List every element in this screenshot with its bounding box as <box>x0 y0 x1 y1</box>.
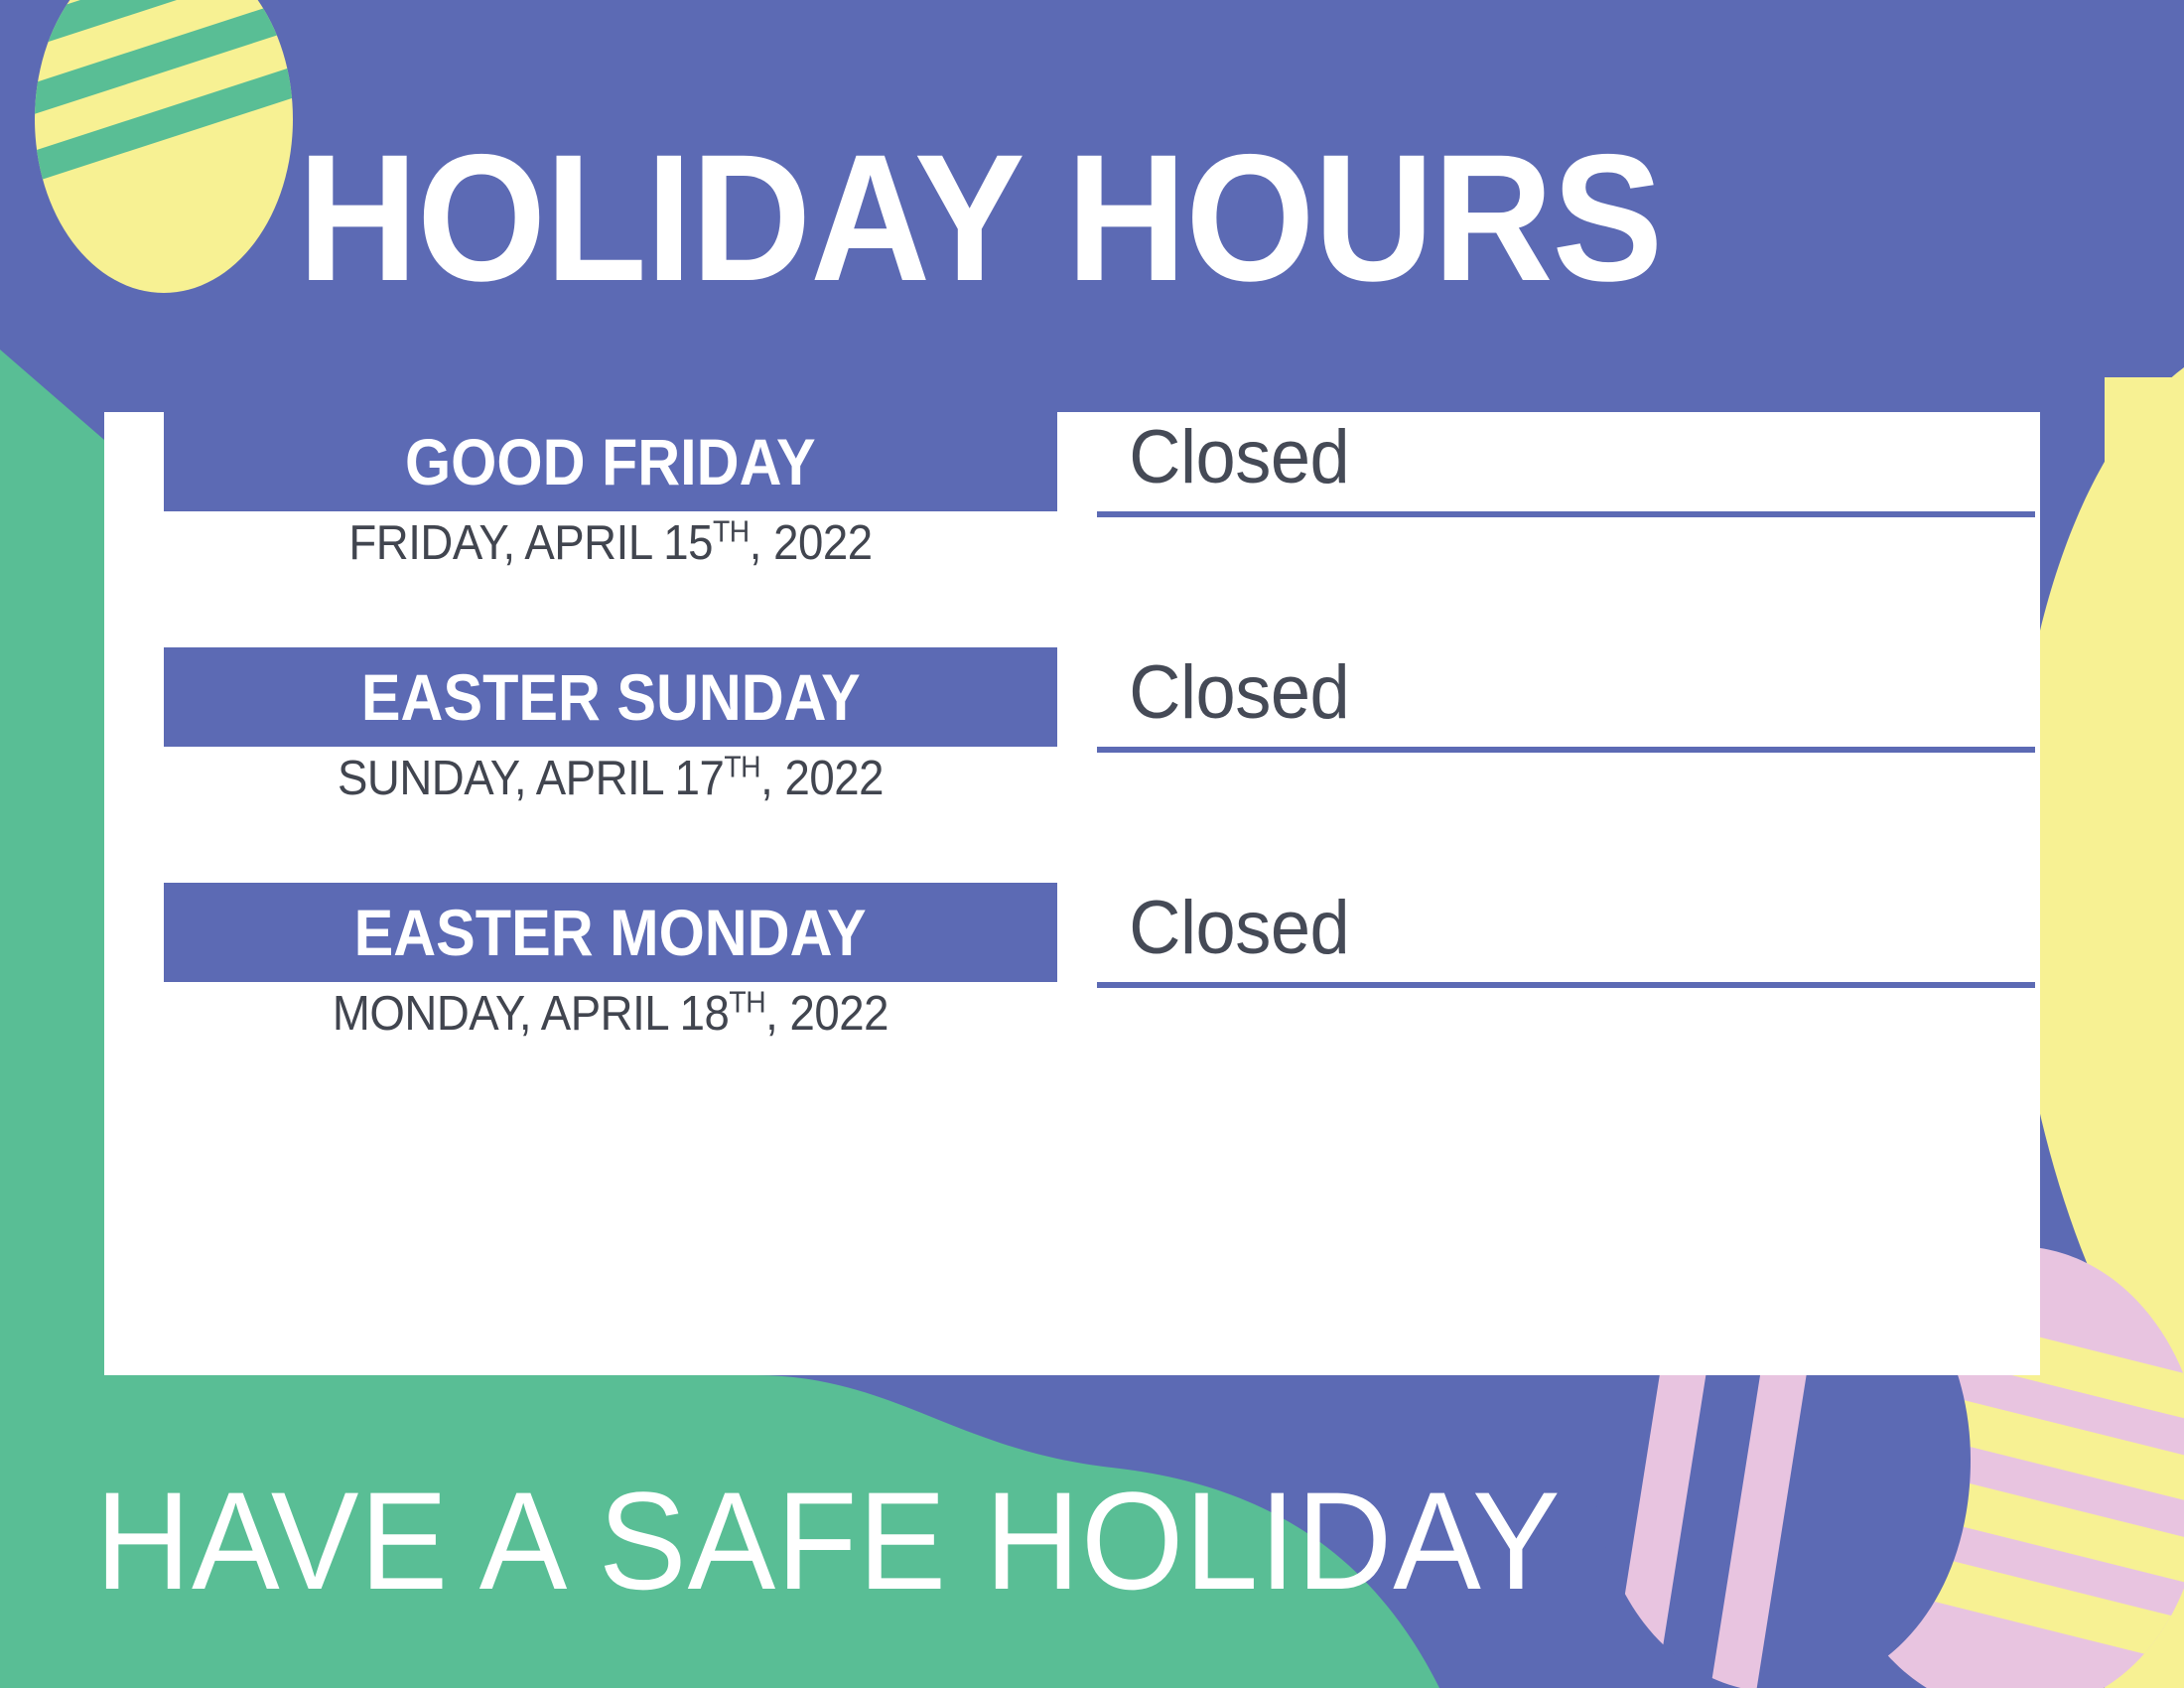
hours-value: Closed <box>1097 420 1349 495</box>
hours-field: Closed <box>1097 639 2035 753</box>
holiday-hours-poster: HOLIDAY HOURS GOOD FRIDAY FRIDAY, APRIL … <box>0 0 2184 1688</box>
holiday-name: EASTER SUNDAY <box>361 664 861 730</box>
holiday-date-ordinal: TH <box>713 515 750 549</box>
hours-value: Closed <box>1097 655 1349 731</box>
holiday-name: EASTER MONDAY <box>354 900 867 965</box>
hours-field: Closed <box>1097 404 2035 517</box>
footer-message: HAVE A SAFE HOLIDAY <box>95 1468 1562 1614</box>
holiday-date-ordinal: TH <box>729 986 765 1020</box>
holiday-label-bar: GOOD FRIDAY <box>164 412 1057 511</box>
holiday-name: GOOD FRIDAY <box>405 429 816 494</box>
holiday-date-prefix: SUNDAY, APRIL 17 <box>338 752 724 805</box>
holiday-date-suffix: , 2022 <box>760 752 884 805</box>
holiday-date: MONDAY, APRIL 18TH, 2022 <box>196 982 1026 1047</box>
holiday-date-ordinal: TH <box>724 751 760 784</box>
schedule-card: GOOD FRIDAY FRIDAY, APRIL 15TH, 2022 Clo… <box>104 412 2040 1375</box>
holiday-date: SUNDAY, APRIL 17TH, 2022 <box>196 747 1026 811</box>
holiday-date-suffix: , 2022 <box>750 516 873 570</box>
holiday-label-bar: EASTER MONDAY <box>164 883 1057 982</box>
hours-field: Closed <box>1097 875 2035 988</box>
hours-value: Closed <box>1097 891 1349 966</box>
holiday-label-bar: EASTER SUNDAY <box>164 647 1057 747</box>
schedule-row: EASTER MONDAY MONDAY, APRIL 18TH, 2022 C… <box>104 883 2040 1111</box>
holiday-date-prefix: FRIDAY, APRIL 15 <box>348 516 713 570</box>
holiday-date-suffix: , 2022 <box>765 987 888 1041</box>
holiday-date-prefix: MONDAY, APRIL 18 <box>333 987 729 1041</box>
schedule-row: EASTER SUNDAY SUNDAY, APRIL 17TH, 2022 C… <box>104 647 2040 876</box>
schedule-row: GOOD FRIDAY FRIDAY, APRIL 15TH, 2022 Clo… <box>104 412 2040 640</box>
page-title: HOLIDAY HOURS <box>298 127 1850 308</box>
holiday-date: FRIDAY, APRIL 15TH, 2022 <box>196 511 1026 576</box>
